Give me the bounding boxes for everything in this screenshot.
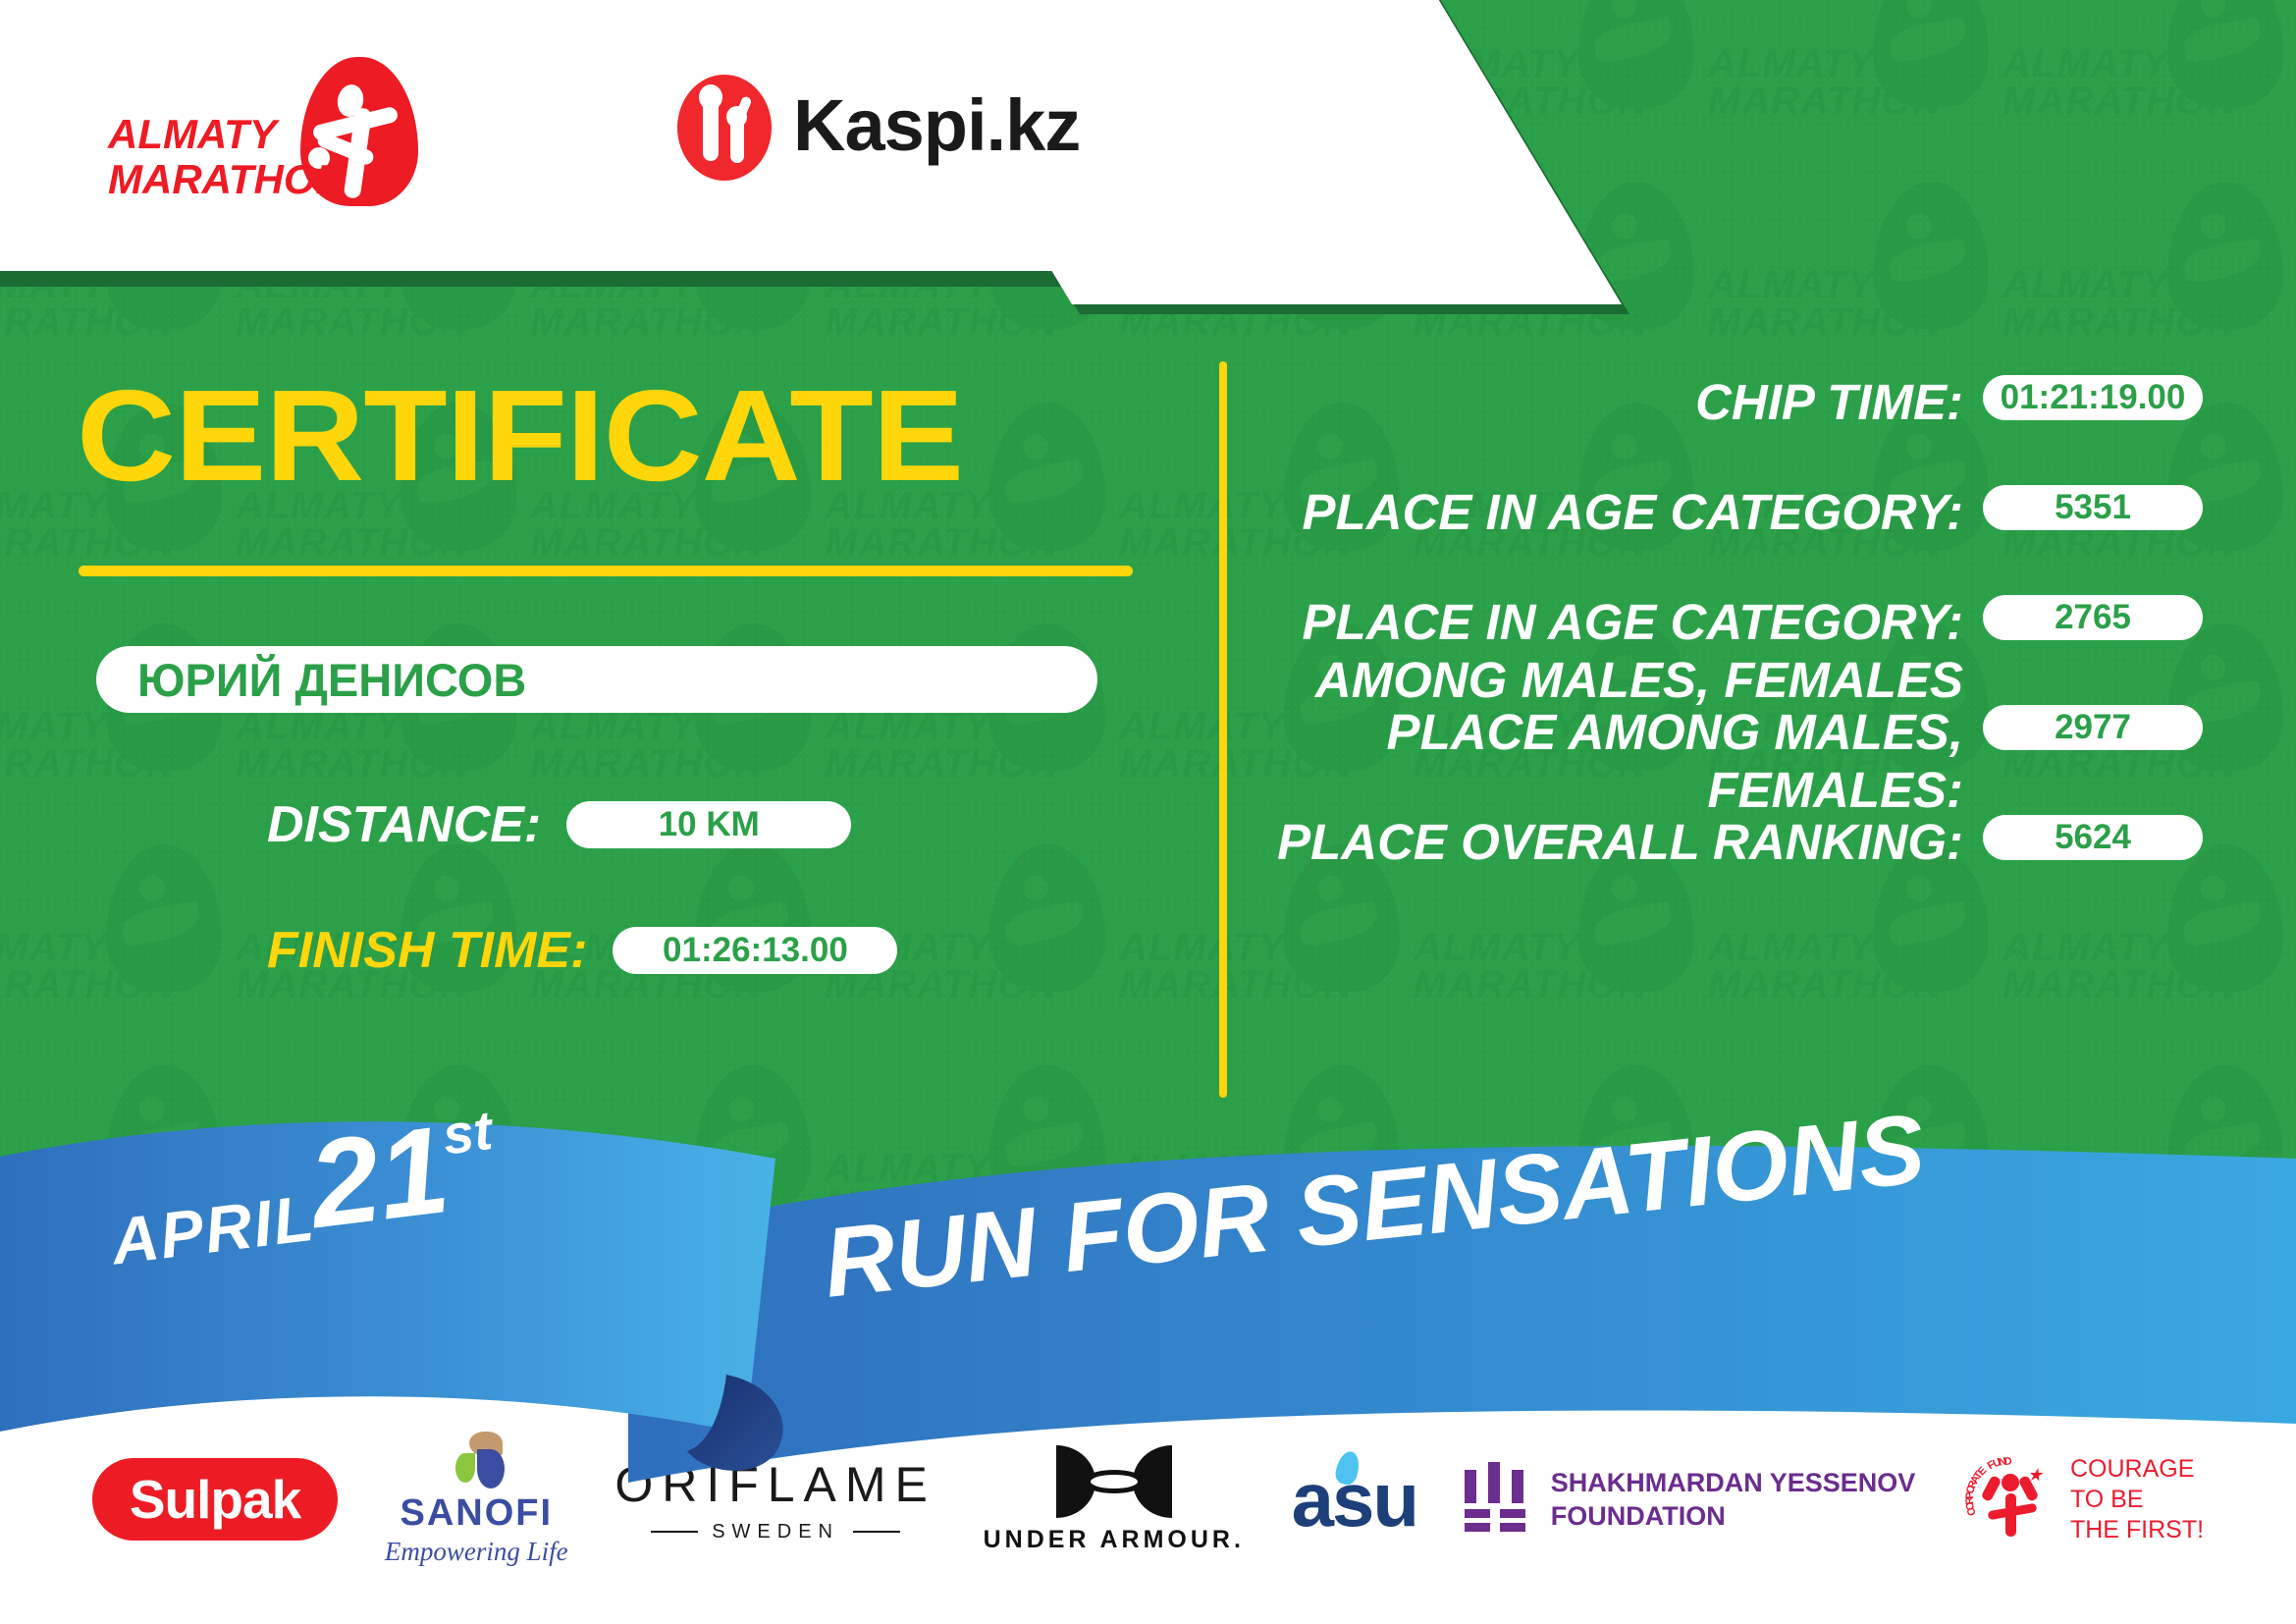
participant-name-field: ЮРИЙ ДЕНИСОВ xyxy=(96,646,1097,713)
kaspi-people-icon xyxy=(677,75,772,181)
watermark-text: ALMATY MARATHON xyxy=(2002,266,2209,341)
watermark-tile: ALMATY MARATHON xyxy=(0,1286,236,1345)
stat-row-place-age-category-among: PLACE IN AGE CATEGORY: AMONG MALES, FEMA… xyxy=(1276,593,2218,677)
watermark-text: ALMATY MARATHON xyxy=(2002,45,2209,120)
certificate-root: ALMATY MARATHONALMATY MARATHONALMATY MAR… xyxy=(0,0,2296,1624)
sponsor-bar: Sulpak SANOFI Empowering Life ORIFLAME S… xyxy=(0,1375,2296,1624)
distance-value-pill: 10 KM xyxy=(566,801,851,848)
watermark-drop-icon xyxy=(1873,0,1989,108)
stat-value-pill: 5351 xyxy=(1983,485,2203,530)
watermark-drop-icon xyxy=(989,844,1105,992)
kaspi-logo-text: Kaspi.kz xyxy=(793,81,1080,171)
oriflame-sub: SWEDEN xyxy=(651,1521,900,1543)
watermark-tile: ALMATY MARATHON xyxy=(0,844,236,1065)
stat-row-place-age-category: PLACE IN AGE CATEGORY: 5351 xyxy=(1276,483,2218,568)
watermark-drop-icon xyxy=(2167,0,2283,108)
watermark-drop-icon xyxy=(2167,1286,2283,1345)
stats-list: CHIP TIME: 01:21:19.00 PLACE IN AGE CATE… xyxy=(1276,373,2218,923)
finish-time-value: 01:26:13.00 xyxy=(663,931,848,970)
kaspi-logo: Kaspi.kz xyxy=(677,71,1090,198)
watermark-tile: ALMATY MARATHON xyxy=(236,1286,530,1345)
watermark-text: ALMATY MARATHON xyxy=(1708,45,1914,120)
watermark-text: ALMATY MARATHON xyxy=(530,1150,736,1224)
watermark-tile: ALMATY MARATHON xyxy=(2002,182,2296,403)
stat-label: PLACE IN AGE CATEGORY: AMONG MALES, FEMA… xyxy=(1276,593,1963,709)
stat-value-pill: 5624 xyxy=(1983,815,2203,860)
watermark-text: ALMATY MARATHON xyxy=(825,708,1031,783)
watermark-tile: ALMATY MARATHON xyxy=(1119,1286,1414,1345)
watermark-tile: ALMATY MARATHON xyxy=(2002,1065,2296,1286)
title-underline xyxy=(79,566,1133,576)
watermark-text: ALMATY MARATHON xyxy=(1414,929,1620,1003)
watermark-tile: ALMATY MARATHON xyxy=(1414,1286,1708,1345)
stat-label: PLACE OVERALL RANKING: xyxy=(1276,813,1963,871)
finish-time-label: FINISH TIME: xyxy=(267,921,587,980)
sulpak-logo-text: Sulpak xyxy=(92,1458,338,1541)
watermark-drop-icon xyxy=(695,1065,811,1213)
sponsor-yessenov-foundation: SHAKHMARDAN YESSENOV FOUNDATION xyxy=(1465,1462,1916,1537)
stat-value: 01:21:19.00 xyxy=(2001,378,2186,417)
yessenov-lockup: SHAKHMARDAN YESSENOV FOUNDATION xyxy=(1465,1462,1916,1537)
finish-time-value-pill: 01:26:13.00 xyxy=(613,927,897,974)
watermark-text: ALMATY MARATHON xyxy=(236,708,442,783)
stat-label: PLACE IN AGE CATEGORY: xyxy=(1276,483,1963,541)
watermark-drop-icon xyxy=(989,403,1105,550)
almaty-marathon-logo: ALMATY MARATHON xyxy=(108,57,432,214)
sanofi-logo-text: SANOFI xyxy=(400,1492,553,1535)
oriflame-rule-left xyxy=(651,1531,698,1533)
stat-value: 2977 xyxy=(2055,708,2131,747)
oriflame-rule-right xyxy=(853,1531,900,1533)
yessenov-mark-icon xyxy=(1465,1462,1525,1537)
distance-value: 10 KM xyxy=(659,805,760,844)
watermark-tile: ALMATY MARATHON xyxy=(2002,0,2296,182)
watermark-text: ALMATY MARATHON xyxy=(0,708,147,783)
stat-row-place-among-males-females: PLACE AMONG MALES, FEMALES: 2977 xyxy=(1276,703,2218,787)
watermark-tile: ALMATY MARATHON xyxy=(2002,1286,2296,1345)
almaty-marathon-logo-text: ALMATY MARATHON xyxy=(108,112,304,202)
watermark-text: ALMATY MARATHON xyxy=(530,708,736,783)
sponsor-oriflame: ORIFLAME SWEDEN xyxy=(614,1456,936,1543)
sanofi-mark-icon xyxy=(446,1432,507,1489)
sanofi-tagline: Empowering Life xyxy=(385,1537,568,1567)
watermark-drop-icon xyxy=(106,1286,222,1345)
stat-row-chip-time: CHIP TIME: 01:21:19.00 xyxy=(1276,373,2218,458)
sponsor-asu: asu xyxy=(1292,1455,1417,1544)
stat-value: 2765 xyxy=(2055,598,2131,637)
sponsor-sulpak: Sulpak xyxy=(92,1458,338,1541)
stat-value-pill: 2977 xyxy=(1983,705,2203,750)
watermark-drop-icon xyxy=(1284,1286,1400,1345)
yessenov-logo-text: SHAKHMARDAN YESSENOV FOUNDATION xyxy=(1551,1466,1916,1533)
watermark-tile: ALMATY MARATHON xyxy=(1708,182,2002,403)
watermark-text: ALMATY MARATHON xyxy=(1708,266,1914,341)
oriflame-logo-text: ORIFLAME xyxy=(614,1456,936,1513)
watermark-text: ALMATY MARATHON xyxy=(2002,1150,2209,1224)
participant-name: ЮРИЙ ДЕНИСОВ xyxy=(96,653,526,707)
header-logos: ALMATY MARATHON Kaspi.kz xyxy=(0,0,1286,271)
stat-value-pill: 01:21:19.00 xyxy=(1983,375,2203,420)
courage-lockup: CORPORATE FUND ★ COURAGE TO BE THE FIRST… xyxy=(1962,1452,2204,1546)
page-title: CERTIFICATE xyxy=(77,371,963,501)
under-armour-logo-text: UNDER ARMOUR. xyxy=(984,1526,1245,1554)
watermark-drop-icon xyxy=(2167,1065,2283,1213)
sponsor-sanofi: SANOFI Empowering Life xyxy=(385,1432,568,1567)
stat-value: 5351 xyxy=(2055,488,2131,527)
sponsor-under-armour: UNDER ARMOUR. xyxy=(984,1445,1245,1554)
watermark-drop-icon xyxy=(2167,182,2283,329)
ribbon-day: 21 xyxy=(302,1100,455,1254)
courage-arc-letter: D xyxy=(2003,1455,2012,1468)
watermark-drop-icon xyxy=(400,1286,516,1345)
oriflame-sub-text: SWEDEN xyxy=(712,1521,839,1543)
watermark-drop-icon xyxy=(1873,1286,1989,1345)
watermark-tile: ALMATY MARATHON xyxy=(530,1065,825,1286)
under-armour-icon xyxy=(1056,1445,1172,1518)
stat-label: CHIP TIME: xyxy=(1276,373,1963,431)
watermark-tile: ALMATY MARATHON xyxy=(1708,0,2002,182)
stat-value: 5624 xyxy=(2055,818,2131,857)
stat-row-place-overall-ranking: PLACE OVERALL RANKING: 5624 xyxy=(1276,813,2218,897)
asu-logo-text: asu xyxy=(1292,1455,1417,1544)
stat-label: PLACE AMONG MALES, FEMALES: xyxy=(1276,703,1963,819)
watermark-tile: ALMATY MARATHON xyxy=(1708,1286,2002,1345)
watermark-text: ALMATY MARATHON xyxy=(0,929,147,1003)
stat-value-pill: 2765 xyxy=(1983,595,2203,640)
distance-label: DISTANCE: xyxy=(267,795,541,854)
watermark-drop-icon xyxy=(106,844,222,992)
distance-row: DISTANCE: 10 KM xyxy=(267,795,851,854)
vertical-divider xyxy=(1219,361,1227,1098)
ribbon-day-suffix: st xyxy=(440,1099,496,1166)
courage-logo-text: COURAGE TO BE THE FIRST! xyxy=(2070,1454,2204,1545)
watermark-text: ALMATY MARATHON xyxy=(1708,929,1914,1003)
watermark-drop-icon xyxy=(1578,0,1694,108)
watermark-tile: ALMATY MARATHON xyxy=(530,1286,825,1345)
watermark-drop-icon xyxy=(1578,1286,1694,1345)
watermark-drop-icon xyxy=(1873,182,1989,329)
sponsor-courage-to-be-the-first: CORPORATE FUND ★ COURAGE TO BE THE FIRST… xyxy=(1962,1452,2204,1546)
finish-time-row: FINISH TIME: 01:26:13.00 xyxy=(267,921,897,980)
watermark-text: ALMATY MARATHON xyxy=(2002,929,2209,1003)
courage-figure-icon: CORPORATE FUND ★ xyxy=(1962,1452,2056,1546)
watermark-drop-icon xyxy=(695,1286,811,1345)
